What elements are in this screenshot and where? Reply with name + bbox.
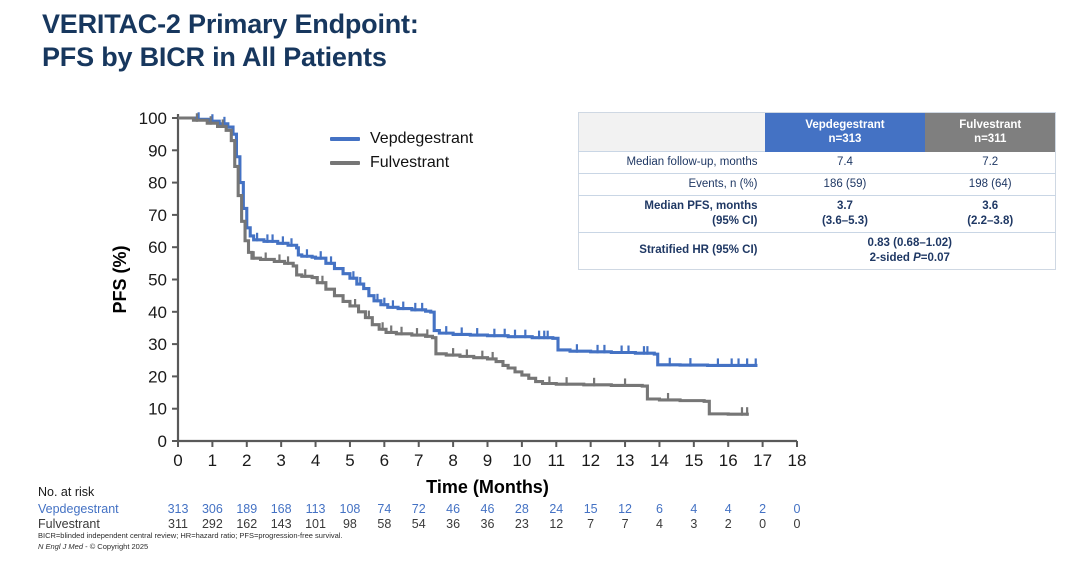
x-tick-label: 8 [448,451,457,470]
risk-count: 101 [304,517,328,531]
risk-count: 28 [510,502,534,516]
risk-count: 74 [372,502,396,516]
y-tick-label: 40 [148,303,167,322]
stratified-hr-estimate: 0.83 (0.68–1.02) [772,236,1049,251]
y-tick-label: 30 [148,335,167,354]
footnote-abbreviations: BICR=blinded independent central review;… [38,531,343,542]
x-tick-label: 9 [483,451,492,470]
x-tick-label: 15 [684,451,703,470]
footnote-copyright: N Engl J Med - © Copyright 2025 [38,542,343,553]
title-line-2: PFS by BICR in All Patients [42,41,682,74]
risk-count: 12 [613,502,637,516]
risk-count: 46 [441,502,465,516]
cell-events-vepdegestrant: 186 (59) [765,174,926,196]
x-tick-label: 10 [512,451,531,470]
x-tick-label: 18 [788,451,807,470]
row-label-events: Events, n (%) [579,174,765,196]
y-tick-label: 60 [148,238,167,257]
cell-events-fulvestrant: 198 (64) [925,174,1055,196]
pvalue-prefix: 2-sided [870,252,913,264]
risk-count: 36 [441,517,465,531]
cell-median-pfs-fulvestrant-ci: (2.2–3.8) [932,214,1048,229]
legend-label-fulvestrant: Fulvestrant [370,154,449,172]
risk-row-fulvestrant: Fulvestrant 3112921621431019858543636231… [38,517,838,532]
risk-count: 292 [200,517,224,531]
cell-median-pfs-vepdegestrant-ci: (3.6–5.3) [772,214,919,229]
table-row-median-pfs: Median PFS, months (95% CI) 3.7 (3.6–5.3… [579,196,1056,233]
risk-count: 4 [716,502,740,516]
header-blank-cell [579,113,765,152]
row-label-median-pfs-line1: Median PFS, months [586,199,758,214]
cell-median-pfs-fulvestrant-value: 3.6 [932,199,1048,214]
y-tick-label: 100 [139,109,167,128]
x-tick-label: 14 [650,451,669,470]
risk-count: 108 [338,502,362,516]
page-title: VERITAC-2 Primary Endpoint: PFS by BICR … [42,8,682,74]
footnote-copyright-text: - © Copyright 2025 [83,542,148,551]
y-axis-title: PFS (%) [110,245,130,313]
x-tick-label: 6 [380,451,389,470]
header-fulvestrant-name: Fulvestrant [929,118,1051,132]
risk-table: No. at risk Vepdegestrant 31330618916811… [38,485,838,532]
legend-item-fulvestrant: Fulvestrant [330,152,473,174]
risk-row-label-fulvestrant: Fulvestrant [38,517,100,531]
risk-count: 306 [200,502,224,516]
legend-label-vepdegestrant: Vepdegestrant [370,130,473,148]
header-fulvestrant: Fulvestrant n=311 [925,113,1055,152]
cell-median-pfs-vepdegestrant: 3.7 (3.6–5.3) [765,196,926,233]
risk-count: 143 [269,517,293,531]
header-fulvestrant-n: n=311 [929,132,1051,146]
risk-count: 7 [579,517,603,531]
cell-median-followup-fulvestrant: 7.2 [925,152,1055,174]
row-label-median-followup: Median follow-up, months [579,152,765,174]
risk-count: 98 [338,517,362,531]
risk-row-label-vepdegestrant: Vepdegestrant [38,502,119,516]
risk-row-vepdegestrant: Vepdegestrant 31330618916811310874724646… [38,502,838,517]
stratified-hr-pvalue: 2-sided P=0.07 [772,251,1049,266]
table-row-median-followup: Median follow-up, months 7.4 7.2 [579,152,1056,174]
title-line-1: VERITAC-2 Primary Endpoint: [42,9,419,39]
header-vepdegestrant-name: Vepdegestrant [769,118,922,132]
risk-count: 3 [682,517,706,531]
table-header-row: Vepdegestrant n=313 Fulvestrant n=311 [579,113,1056,152]
pvalue-suffix: =0.07 [921,252,950,264]
y-tick-label: 50 [148,271,167,290]
x-tick-label: 11 [547,451,565,470]
chart-legend: Vepdegestrant Fulvestrant [330,128,473,176]
footnote-journal: N Engl J Med [38,542,83,551]
slide-root: VERITAC-2 Primary Endpoint: PFS by BICR … [0,0,1080,563]
x-tick-label: 13 [616,451,635,470]
x-tick-label: 12 [581,451,600,470]
risk-count: 23 [510,517,534,531]
row-label-median-pfs-line2: (95% CI) [586,214,758,229]
y-tick-label: 80 [148,174,167,193]
y-tick-label: 20 [148,367,167,386]
risk-count: 4 [682,502,706,516]
x-tick-label: 2 [242,451,251,470]
risk-count: 2 [751,502,775,516]
header-vepdegestrant-n: n=313 [769,132,922,146]
risk-count: 6 [647,502,671,516]
cell-median-pfs-vepdegestrant-value: 3.7 [772,199,919,214]
table-row-events: Events, n (%) 186 (59) 198 (64) [579,174,1056,196]
risk-count: 36 [476,517,500,531]
legend-swatch-vepdegestrant [330,137,360,141]
legend-swatch-fulvestrant [330,161,360,165]
risk-count: 72 [407,502,431,516]
risk-count: 4 [647,517,671,531]
row-label-stratified-hr: Stratified HR (95% CI) [579,233,765,270]
cell-median-followup-vepdegestrant: 7.4 [765,152,926,174]
row-label-median-pfs: Median PFS, months (95% CI) [579,196,765,233]
results-table: Vepdegestrant n=313 Fulvestrant n=311 Me… [578,112,1056,270]
y-tick-label: 10 [148,400,167,419]
risk-count: 7 [613,517,637,531]
y-tick-label: 70 [148,206,167,225]
risk-table-title: No. at risk [38,485,838,499]
risk-count: 162 [235,517,259,531]
x-tick-label: 7 [414,451,423,470]
legend-item-vepdegestrant: Vepdegestrant [330,128,473,150]
risk-count: 54 [407,517,431,531]
cell-stratified-hr-value: 0.83 (0.68–1.02) 2-sided P=0.07 [765,233,1056,270]
x-tick-label: 4 [311,451,320,470]
pvalue-symbol: P [913,252,921,264]
y-tick-label: 90 [148,141,167,160]
risk-count: 189 [235,502,259,516]
risk-count: 0 [785,502,809,516]
risk-count: 311 [166,517,190,531]
risk-count: 168 [269,502,293,516]
risk-count: 0 [751,517,775,531]
x-tick-label: 16 [719,451,738,470]
footnotes: BICR=blinded independent central review;… [38,531,343,553]
header-vepdegestrant: Vepdegestrant n=313 [765,113,926,152]
risk-count: 46 [476,502,500,516]
x-tick-label: 3 [276,451,285,470]
risk-count: 15 [579,502,603,516]
x-tick-label: 5 [345,451,354,470]
x-tick-label: 17 [753,451,772,470]
risk-count: 113 [304,502,328,516]
risk-count: 12 [544,517,568,531]
risk-count: 313 [166,502,190,516]
risk-count: 58 [372,517,396,531]
x-tick-label: 1 [208,451,217,470]
risk-count: 0 [785,517,809,531]
risk-count: 24 [544,502,568,516]
table-row-stratified-hr: Stratified HR (95% CI) 0.83 (0.68–1.02) … [579,233,1056,270]
risk-count: 2 [716,517,740,531]
y-tick-label: 0 [158,432,167,451]
x-tick-label: 0 [173,451,182,470]
cell-median-pfs-fulvestrant: 3.6 (2.2–3.8) [925,196,1055,233]
